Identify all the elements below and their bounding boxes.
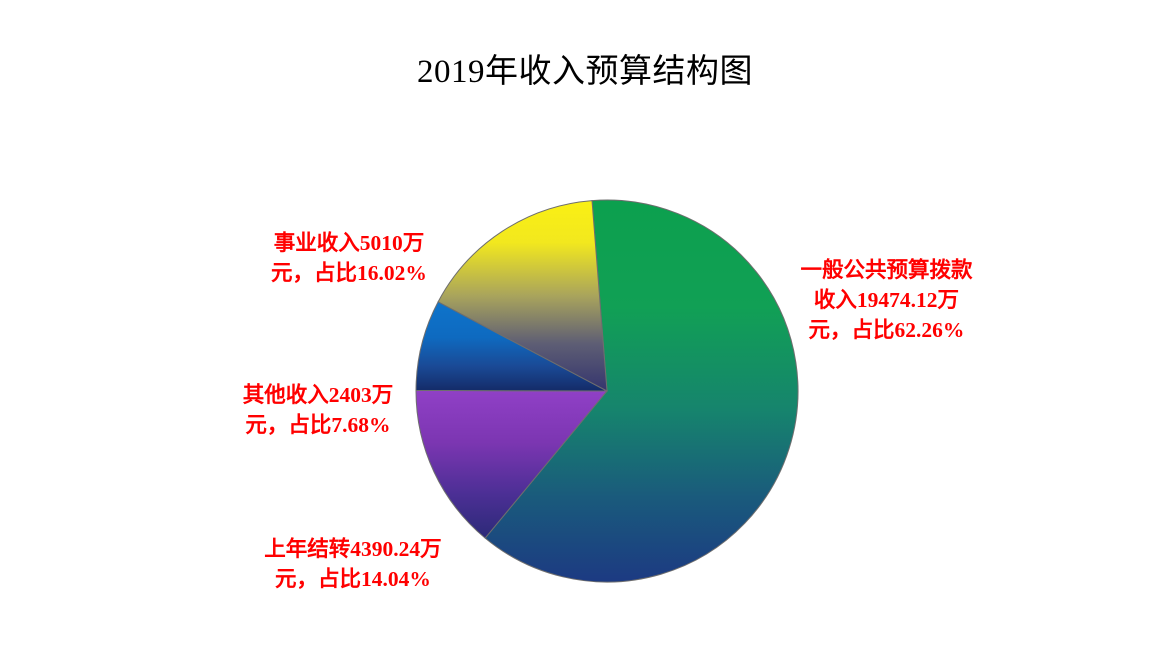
slice-label-general-public-budget: 一般公共预算拨款 收入19474.12万 元，占比62.26% [779, 255, 994, 345]
slice-label-business-income: 事业收入5010万 元，占比16.02% [250, 228, 448, 288]
pie-chart-graphic [0, 0, 1170, 665]
slice-label-carryover: 上年结转4390.24万 元，占比14.04% [238, 534, 468, 594]
pie-chart-container: 2019年收入预算结构图 [0, 0, 1170, 665]
slice-label-other-income: 其他收入2403万 元，占比7.68% [222, 380, 414, 440]
